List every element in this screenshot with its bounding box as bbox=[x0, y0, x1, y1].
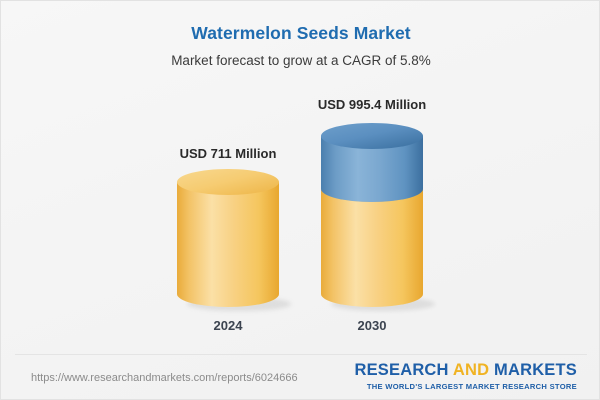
axis-label-2030: 2030 bbox=[272, 318, 472, 333]
chart-canvas: Watermelon Seeds Market Market forecast … bbox=[0, 0, 600, 400]
plot-area: USD 711 Million bbox=[1, 1, 600, 353]
value-label-2024: USD 711 Million bbox=[128, 146, 328, 161]
cylinder-2030 bbox=[307, 111, 437, 321]
logo-accent-text: AND bbox=[453, 361, 489, 379]
research-and-markets-logo[interactable]: RESEARCH AND MARKETS THE WORLD'S LARGEST… bbox=[354, 362, 577, 390]
logo-tagline: THE WORLD'S LARGEST MARKET RESEARCH STOR… bbox=[354, 383, 577, 391]
footer-divider bbox=[15, 354, 587, 355]
logo-wordmark: RESEARCH AND MARKETS bbox=[354, 362, 577, 379]
cylinder-2024 bbox=[163, 161, 293, 321]
value-label-2030: USD 995.4 Million bbox=[272, 97, 472, 112]
logo-primary-text: RESEARCH bbox=[354, 361, 448, 379]
logo-secondary-text: MARKETS bbox=[494, 361, 577, 379]
report-url[interactable]: https://www.researchandmarkets.com/repor… bbox=[31, 372, 298, 384]
